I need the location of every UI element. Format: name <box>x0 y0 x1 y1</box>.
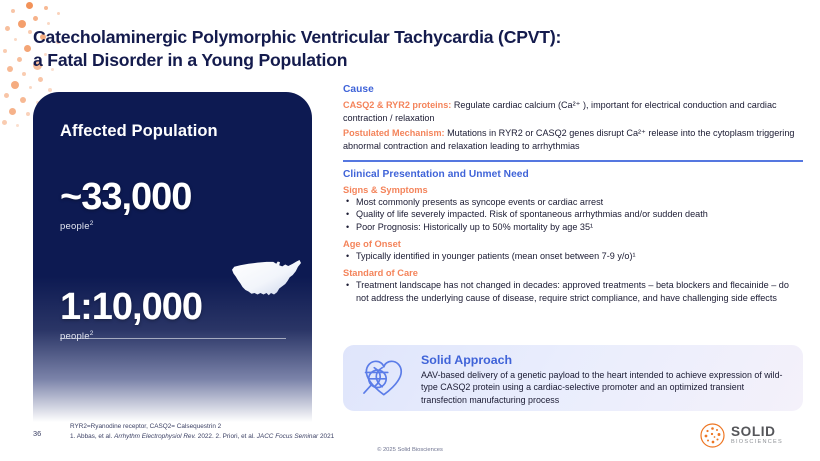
panel-heading: Affected Population <box>60 122 218 141</box>
stat-value: ~33,000 <box>60 178 191 216</box>
solid-approach-heading: Solid Approach <box>421 353 791 367</box>
cause-item-proteins: CASQ2 & RYR2 proteins: Regulate cardiac … <box>343 99 803 124</box>
group-label-signs: Signs & Symptoms <box>343 185 803 195</box>
solid-dot-circle-logo-icon <box>700 423 725 448</box>
footnotes: RYR2=Ryanodine receptor, CASQ2= Calseque… <box>70 422 410 441</box>
content-column: Cause CASQ2 & RYR2 proteins: Regulate ca… <box>343 84 803 307</box>
stat-value: 1:10,000 <box>60 288 202 326</box>
solid-biosciences-logo: SOLID BIOSCIENCES <box>700 423 783 448</box>
footnote-abbreviations: RYR2=Ryanodine receptor, CASQ2= Calseque… <box>70 422 410 432</box>
clinical-section: Clinical Presentation and Unmet Need Sig… <box>343 169 803 305</box>
list-item: Most commonly presents as syncope events… <box>343 196 803 209</box>
group-label-age-of-onset: Age of Onset <box>343 239 803 249</box>
logo-wordmark: SOLID BIOSCIENCES <box>731 425 783 445</box>
list-item: Quality of life severely impacted. Risk … <box>343 208 803 221</box>
bullet-list-signs: Most commonly presents as syncope events… <box>343 196 803 235</box>
page-title: Catecholaminergic Polymorphic Ventricula… <box>33 26 593 72</box>
stat-unit: people2 <box>60 221 191 232</box>
group-label-standard-of-care: Standard of Care <box>343 268 803 278</box>
solid-approach-box: Solid Approach AAV-based delivery of a g… <box>343 345 803 411</box>
cause-item-mechanism: Postulated Mechanism: Mutations in RYR2 … <box>343 127 803 152</box>
slide-root: Catecholaminergic Polymorphic Ventricula… <box>0 0 820 461</box>
copyright-notice: © 2025 Solid Biosciences <box>0 447 820 453</box>
list-item: Treatment landscape has not changed in d… <box>343 279 803 305</box>
list-item: Poor Prognosis: Historically up to 50% m… <box>343 221 803 234</box>
cause-section: Cause CASQ2 & RYR2 proteins: Regulate ca… <box>343 84 803 152</box>
heart-dna-icon <box>355 355 411 401</box>
solid-approach-text: AAV-based delivery of a genetic payload … <box>421 369 791 406</box>
bullet-list-age-of-onset: Typically identified in younger patients… <box>343 250 803 263</box>
list-item: Typically identified in younger patients… <box>343 250 803 263</box>
bullet-list-standard-of-care: Treatment landscape has not changed in d… <box>343 279 803 305</box>
affected-population-panel: Affected Population ~33,000 people2 1:10… <box>33 92 312 422</box>
solid-approach-content: Solid Approach AAV-based delivery of a g… <box>421 353 791 406</box>
logo-subtitle: BIOSCIENCES <box>731 440 783 446</box>
cause-item-label: Postulated Mechanism: <box>343 128 445 138</box>
section-divider <box>343 160 803 161</box>
stat-prevalence: 1:10,000 people2 <box>60 288 202 342</box>
page-title-line1: Catecholaminergic Polymorphic Ventricula… <box>33 27 561 47</box>
logo-name: SOLID <box>731 425 783 439</box>
slide-number: 36 <box>33 429 41 438</box>
cause-item-label: CASQ2 & RYR2 proteins: <box>343 100 451 110</box>
stat-unit: people2 <box>60 331 202 342</box>
clinical-heading: Clinical Presentation and Unmet Need <box>343 169 803 180</box>
us-map-icon <box>229 258 304 304</box>
cause-heading: Cause <box>343 84 803 95</box>
footnote-references: 1. Abbas, et al. Arrhythm Electrophysiol… <box>70 432 410 442</box>
page-title-line2: a Fatal Disorder in a Young Population <box>33 49 593 72</box>
stat-total-population: ~33,000 people2 <box>60 178 191 232</box>
